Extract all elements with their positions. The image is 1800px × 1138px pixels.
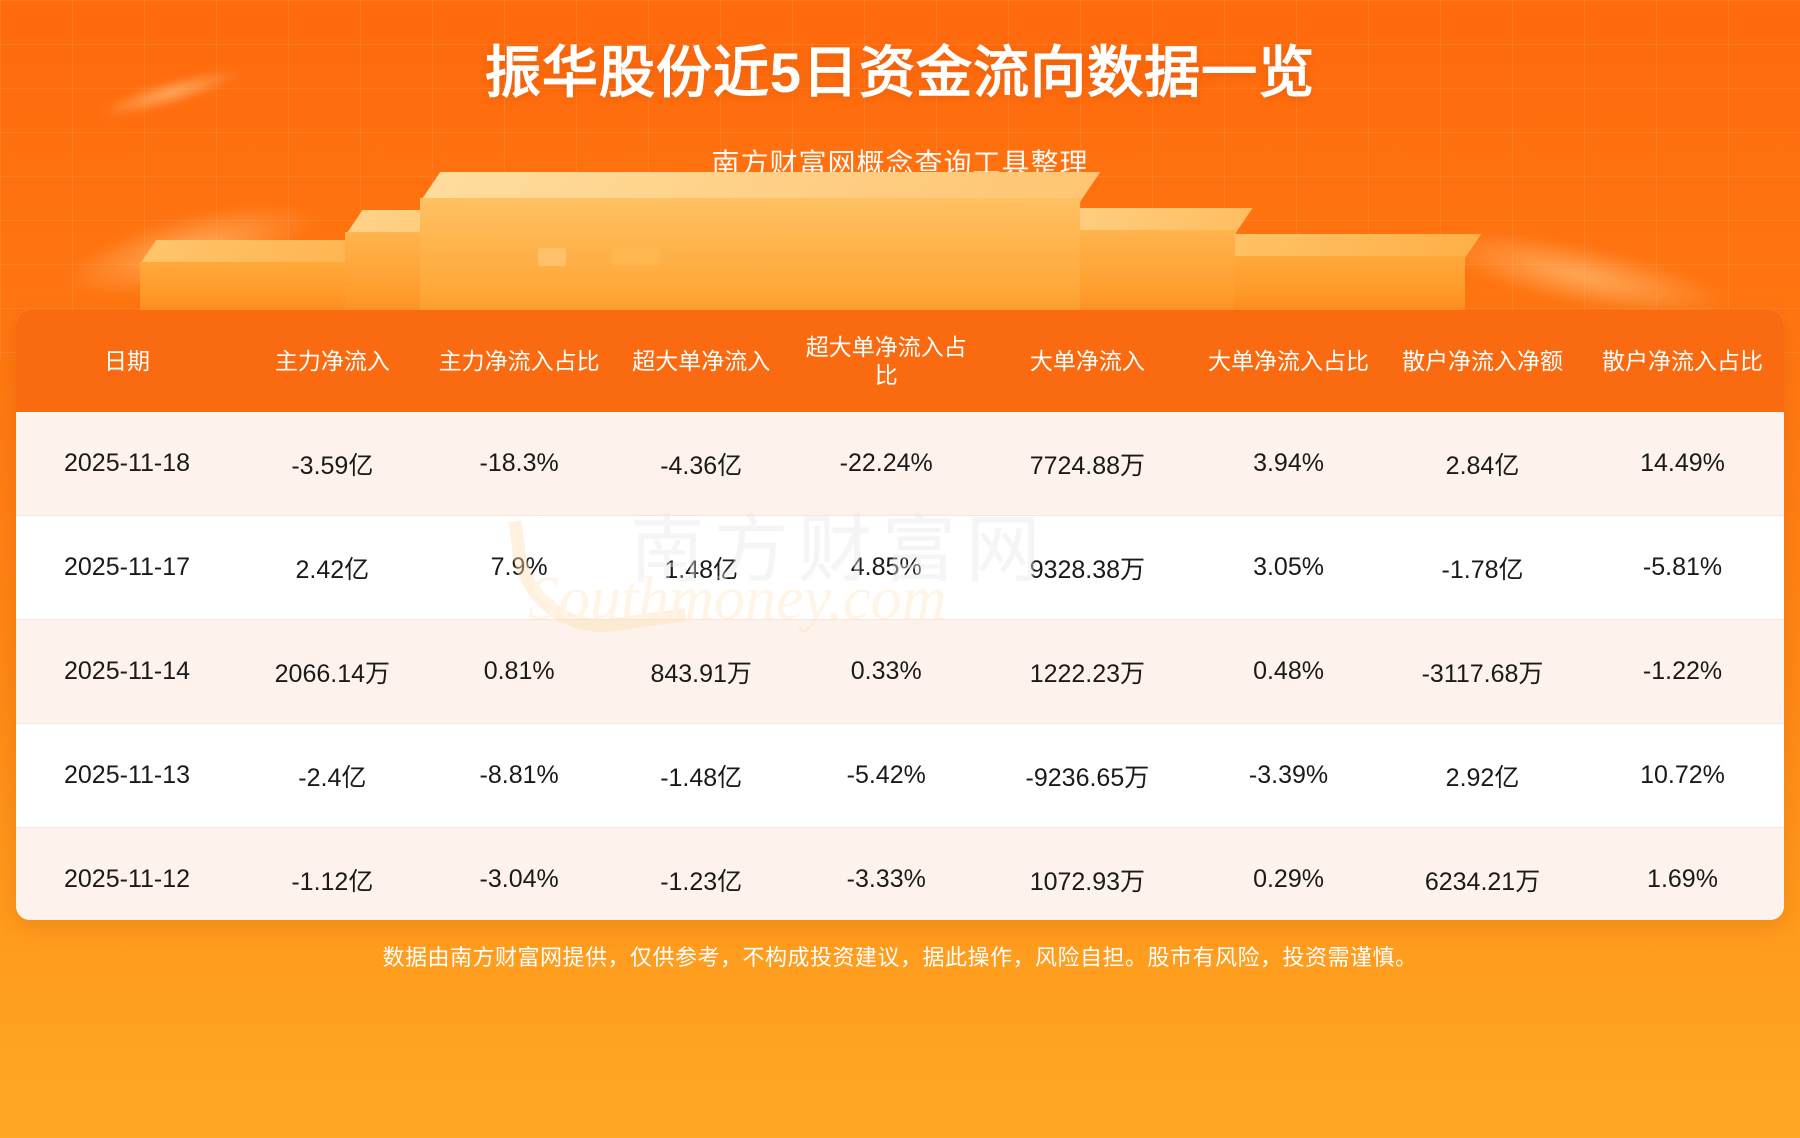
cell-retail-ratio: 1.69% bbox=[1581, 828, 1784, 921]
column-header-date: 日期 bbox=[16, 310, 238, 412]
cell-large-ratio: 0.29% bbox=[1193, 828, 1384, 921]
cell-main-net-inflow-ratio: 0.81% bbox=[427, 620, 612, 724]
cell-retail-ratio: -5.81% bbox=[1581, 516, 1784, 620]
cell-retail-ratio: 10.72% bbox=[1581, 724, 1784, 828]
cell-extra-large-net-inflow: -4.36亿 bbox=[612, 412, 791, 516]
podium-accent-block bbox=[612, 244, 660, 266]
column-header-large-ratio: 大单净流入占比 bbox=[1193, 310, 1384, 412]
cell-extra-large-net-inflow: -1.23亿 bbox=[612, 828, 791, 921]
column-header-main-net-inflow: 主力净流入 bbox=[238, 310, 427, 412]
cell-date: 2025-11-12 bbox=[16, 828, 238, 921]
cell-large-ratio: -3.39% bbox=[1193, 724, 1384, 828]
cell-main-net-inflow: 2.42亿 bbox=[238, 516, 427, 620]
table-row: 2025-11-13 -2.4亿 -8.81% -1.48亿 -5.42% -9… bbox=[16, 724, 1784, 828]
cell-extra-large-net-inflow: 1.48亿 bbox=[612, 516, 791, 620]
cell-date: 2025-11-17 bbox=[16, 516, 238, 620]
cell-large-net-inflow: 7724.88万 bbox=[982, 412, 1193, 516]
cell-main-net-inflow: -1.12亿 bbox=[238, 828, 427, 921]
cell-date: 2025-11-13 bbox=[16, 724, 238, 828]
column-header-main-net-inflow-ratio: 主力净流入占比 bbox=[427, 310, 612, 412]
cell-retail-net-amount: 6234.21万 bbox=[1384, 828, 1581, 921]
cell-large-ratio: 3.05% bbox=[1193, 516, 1384, 620]
cell-extra-large-net-inflow: -1.48亿 bbox=[612, 724, 791, 828]
column-header-retail-ratio: 散户净流入占比 bbox=[1581, 310, 1784, 412]
cell-date: 2025-11-14 bbox=[16, 620, 238, 724]
cell-main-net-inflow-ratio: -8.81% bbox=[427, 724, 612, 828]
table-row: 2025-11-17 2.42亿 7.9% 1.48亿 4.85% 9328.3… bbox=[16, 516, 1784, 620]
cell-retail-net-amount: -3117.68万 bbox=[1384, 620, 1581, 724]
cell-large-net-inflow: 1222.23万 bbox=[982, 620, 1193, 724]
data-table-card: 日期 主力净流入 主力净流入占比 超大单净流入 超大单净流入占比 大单净流入 大… bbox=[16, 310, 1784, 920]
cell-main-net-inflow-ratio: -3.04% bbox=[427, 828, 612, 921]
page-title: 振华股份近5日资金流向数据一览 bbox=[0, 40, 1800, 106]
column-header-retail-net-amount: 散户净流入净额 bbox=[1384, 310, 1581, 412]
cell-large-ratio: 0.48% bbox=[1193, 620, 1384, 724]
page-root: 振华股份近5日资金流向数据一览 南方财富网概念查询工具整理 日期 主力净流入 主… bbox=[0, 0, 1800, 1138]
cell-large-ratio: 3.94% bbox=[1193, 412, 1384, 516]
cell-retail-net-amount: 2.84亿 bbox=[1384, 412, 1581, 516]
cell-large-net-inflow: -9236.65万 bbox=[982, 724, 1193, 828]
cell-extra-large-ratio: 4.85% bbox=[791, 516, 982, 620]
fund-flow-table: 日期 主力净流入 主力净流入占比 超大单净流入 超大单净流入占比 大单净流入 大… bbox=[16, 310, 1784, 920]
cell-extra-large-ratio: -22.24% bbox=[791, 412, 982, 516]
cell-extra-large-ratio: -3.33% bbox=[791, 828, 982, 921]
column-header-extra-large-net-inflow: 超大单净流入 bbox=[612, 310, 791, 412]
cell-main-net-inflow-ratio: 7.9% bbox=[427, 516, 612, 620]
cell-date: 2025-11-18 bbox=[16, 412, 238, 516]
table-row: 2025-11-14 2066.14万 0.81% 843.91万 0.33% … bbox=[16, 620, 1784, 724]
cell-retail-ratio: 14.49% bbox=[1581, 412, 1784, 516]
column-header-extra-large-ratio: 超大单净流入占比 bbox=[791, 310, 982, 412]
cell-retail-ratio: -1.22% bbox=[1581, 620, 1784, 724]
cell-retail-net-amount: -1.78亿 bbox=[1384, 516, 1581, 620]
cell-large-net-inflow: 9328.38万 bbox=[982, 516, 1193, 620]
cell-main-net-inflow: 2066.14万 bbox=[238, 620, 427, 724]
table-row: 2025-11-18 -3.59亿 -18.3% -4.36亿 -22.24% … bbox=[16, 412, 1784, 516]
cell-main-net-inflow: -2.4亿 bbox=[238, 724, 427, 828]
footer-disclaimer: 数据由南方财富网提供，仅供参考，不构成投资建议，据此操作，风险自担。股市有风险，… bbox=[0, 940, 1800, 972]
table-header-row: 日期 主力净流入 主力净流入占比 超大单净流入 超大单净流入占比 大单净流入 大… bbox=[16, 310, 1784, 412]
cell-extra-large-ratio: -5.42% bbox=[791, 724, 982, 828]
cell-extra-large-net-inflow: 843.91万 bbox=[612, 620, 791, 724]
cell-large-net-inflow: 1072.93万 bbox=[982, 828, 1193, 921]
cell-retail-net-amount: 2.92亿 bbox=[1384, 724, 1581, 828]
podium-accent-block-small bbox=[538, 248, 566, 266]
cell-main-net-inflow: -3.59亿 bbox=[238, 412, 427, 516]
table-row: 2025-11-12 -1.12亿 -3.04% -1.23亿 -3.33% 1… bbox=[16, 828, 1784, 921]
column-header-large-net-inflow: 大单净流入 bbox=[982, 310, 1193, 412]
cell-extra-large-ratio: 0.33% bbox=[791, 620, 982, 724]
cell-main-net-inflow-ratio: -18.3% bbox=[427, 412, 612, 516]
podium-step-3 bbox=[420, 198, 1080, 326]
